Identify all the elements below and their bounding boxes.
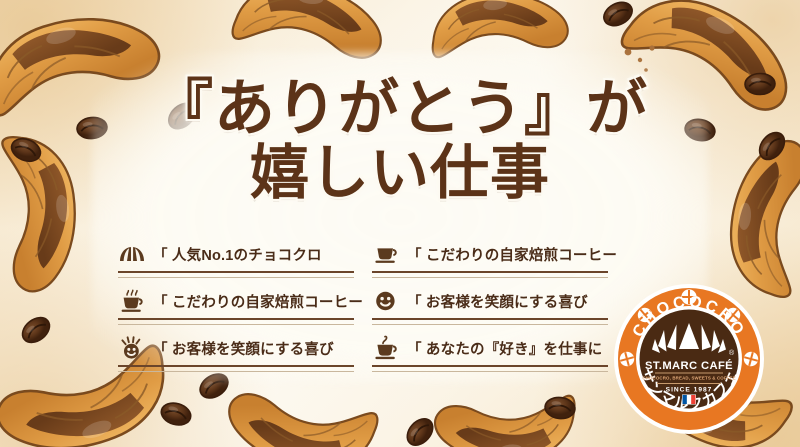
logo-since: SINCE 1987	[666, 387, 713, 394]
st-marc-cafe-logo: CHOCOCRO サンマルクカフェ ® ST.MARC CAFÉ CHOCOCR…	[613, 283, 765, 435]
list-item-label: 「 お客様を笑顔にする喜び	[407, 291, 588, 312]
list-item: 「 こだわりの自家焙煎コーヒー	[118, 284, 354, 318]
list-item: 「 こだわりの自家焙煎コーヒー	[372, 237, 608, 271]
list-item-label: 「 こだわりの自家焙煎コーヒー	[407, 244, 617, 265]
steaming-coffee-cup-icon	[118, 288, 146, 314]
list-item-label: 「 あなたの『好き』を仕事に	[407, 338, 602, 359]
list-item-label: 「 人気No.1のチョコクロ	[153, 244, 322, 265]
list-divider	[118, 271, 354, 278]
coffee-cup-icon	[372, 241, 400, 267]
smiley-face-icon	[372, 288, 400, 314]
headline-line-1: 『ありがとう』が	[0, 76, 800, 142]
list-divider	[372, 318, 608, 325]
list-item: 「 お客様を笑顔にする喜び	[118, 331, 354, 365]
list-divider	[118, 365, 354, 372]
headline-line-2: 嬉しい仕事	[0, 142, 800, 206]
croissant-icon	[118, 241, 146, 267]
logo-brand-name: ST.MARC CAFÉ	[645, 359, 733, 372]
poster-canvas: 『ありがとう』が 嬉しい仕事 「 人気No.1のチョコクロ	[0, 0, 800, 447]
list-item-label: 「 お客様を笑顔にする喜び	[153, 338, 334, 359]
feature-column-right: 「 こだわりの自家焙煎コーヒー 「 お客様を笑顔にする喜び	[372, 237, 608, 372]
feature-column-left: 「 人気No.1のチョコクロ 「 こだわりの自家焙煎コーヒー	[118, 237, 354, 372]
list-divider	[372, 271, 608, 278]
steam-coffee-cup-icon	[372, 335, 400, 361]
list-divider	[372, 365, 608, 372]
page-title: 『ありがとう』が 嬉しい仕事	[0, 76, 800, 206]
logo-tagline: CHOCOCRO, BREAD, SWEETS & COFFEE	[642, 376, 735, 381]
list-item: 「 人気No.1のチョコクロ	[118, 237, 354, 271]
registered-mark: ®	[729, 349, 735, 357]
smiling-sun-face-icon	[118, 335, 146, 361]
list-divider	[118, 318, 354, 325]
feature-list: 「 人気No.1のチョコクロ 「 こだわりの自家焙煎コーヒー	[118, 237, 608, 372]
list-item: 「 あなたの『好き』を仕事に	[372, 331, 608, 365]
french-flag-icon	[683, 395, 696, 404]
list-item-label: 「 こだわりの自家焙煎コーヒー	[153, 291, 363, 312]
list-item: 「 お客様を笑顔にする喜び	[372, 284, 608, 318]
